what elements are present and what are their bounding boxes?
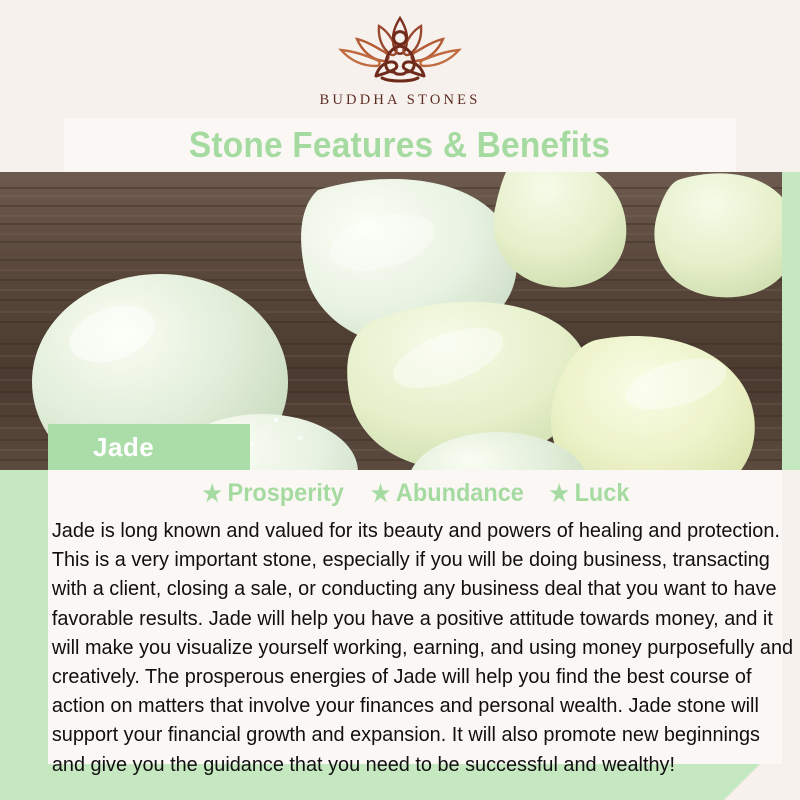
benefit-item-luck: ★ Luck: [550, 479, 630, 508]
benefit-item-prosperity: ★ Prosperity: [202, 479, 343, 508]
benefit-label: Abundance: [396, 479, 524, 508]
title-banner: Stone Features & Benefits: [64, 118, 736, 172]
brand-name: BUDDHA STONES: [320, 92, 481, 109]
lotus-meditation-icon: [332, 14, 468, 88]
star-icon: ★: [371, 482, 390, 505]
stone-description: Jade is long known and valued for its be…: [48, 512, 799, 779]
star-icon: ★: [550, 482, 569, 505]
benefits-list: ★ Prosperity ★ Abundance ★ Luck: [48, 470, 782, 512]
benefit-item-abundance: ★ Abundance: [371, 479, 524, 508]
stone-name: Jade: [93, 432, 154, 463]
benefit-label: Prosperity: [228, 479, 344, 508]
page-title: Stone Features & Benefits: [189, 124, 610, 166]
poster-root: BUDDHA STONES Stone Features & Benefits: [0, 0, 800, 800]
benefit-label: Luck: [575, 479, 630, 508]
brand-logo: BUDDHA STONES: [0, 14, 800, 109]
star-icon: ★: [202, 482, 221, 505]
content-panel: ★ Prosperity ★ Abundance ★ Luck Jade is …: [48, 470, 782, 764]
stone-name-band: Jade: [48, 424, 250, 470]
